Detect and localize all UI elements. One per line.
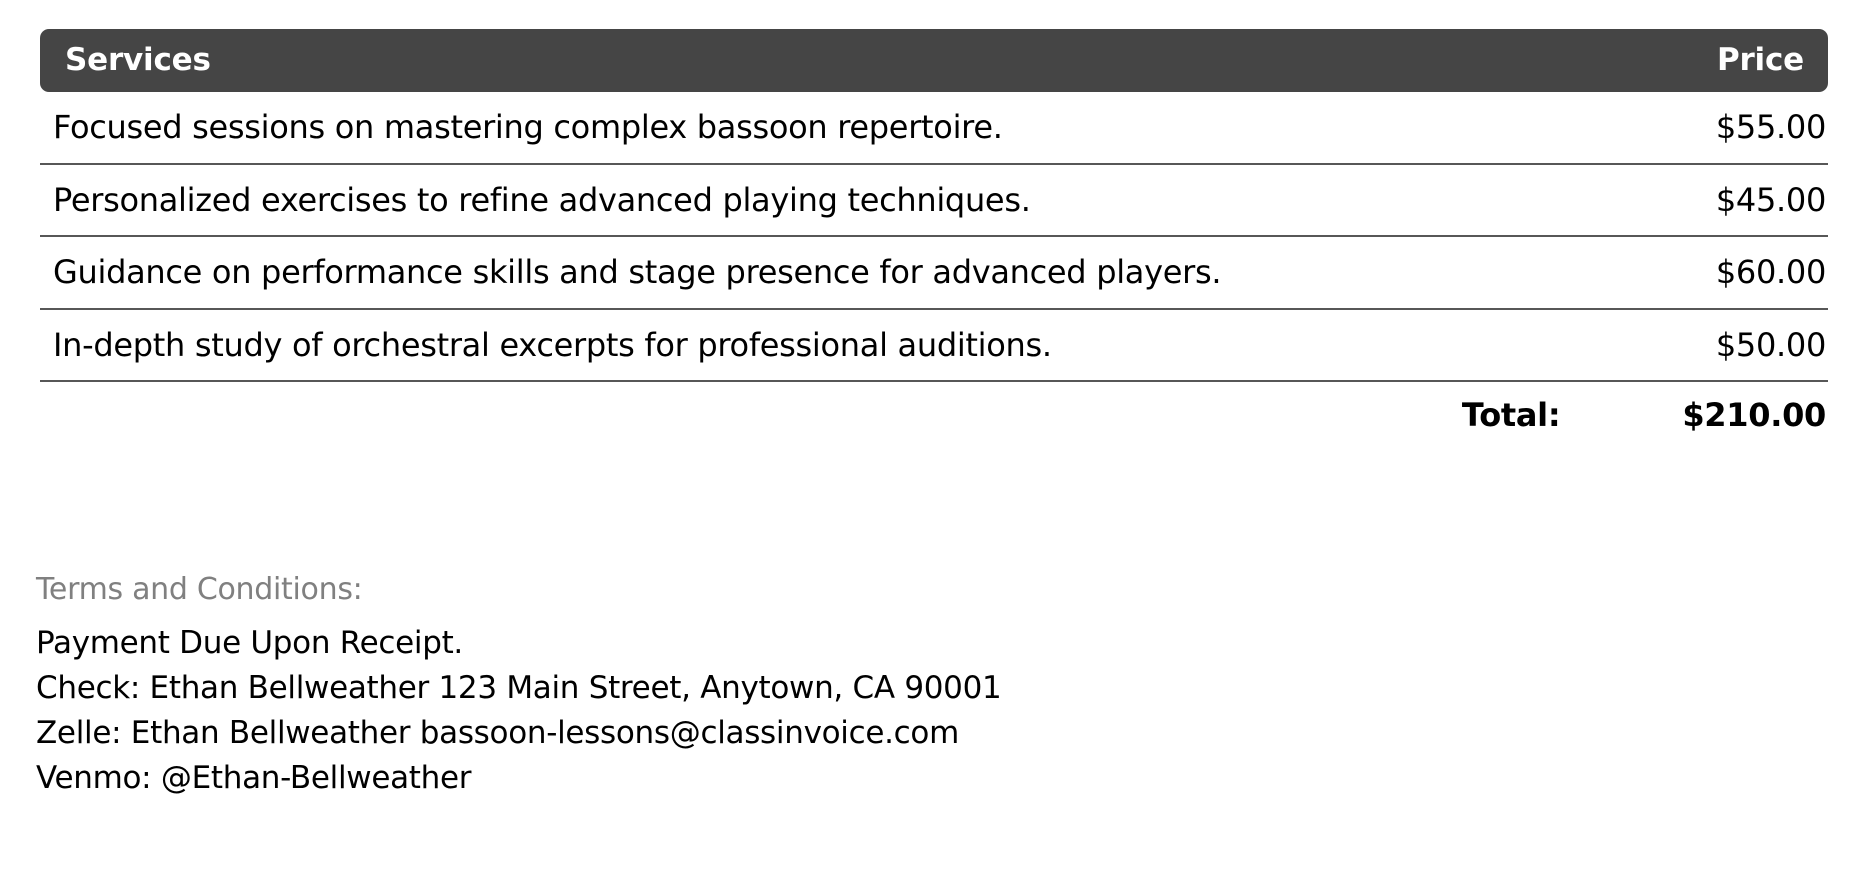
service-description: In-depth study of orchestral excerpts fo… (53, 326, 1052, 364)
service-price: $50.00 (1716, 326, 1826, 364)
terms-and-conditions-section: Terms and Conditions: Payment Due Upon R… (36, 573, 1636, 801)
table-header-row: Services Price (40, 29, 1828, 92)
service-price: $55.00 (1716, 108, 1826, 146)
service-description: Personalized exercises to refine advance… (53, 181, 1031, 219)
terms-line-check: Check: Ethan Bellweather 123 Main Street… (36, 666, 1636, 711)
table-row: Focused sessions on mastering complex ba… (40, 92, 1828, 165)
column-header-services: Services (65, 45, 211, 76)
total-label: Total: (1462, 396, 1560, 434)
total-row: Total: $210.00 (40, 382, 1828, 448)
column-header-price: Price (1717, 45, 1804, 76)
service-price: $45.00 (1716, 181, 1826, 219)
table-row: Guidance on performance skills and stage… (40, 237, 1828, 310)
total-amount: $210.00 (1682, 396, 1826, 434)
services-price-table: Services Price Focused sessions on maste… (40, 29, 1828, 448)
table-row: In-depth study of orchestral excerpts fo… (40, 310, 1828, 383)
terms-title: Terms and Conditions: (36, 573, 1636, 606)
service-description: Guidance on performance skills and stage… (53, 253, 1221, 291)
table-row: Personalized exercises to refine advance… (40, 165, 1828, 238)
invoice-page: Services Price Focused sessions on maste… (0, 0, 1868, 870)
service-price: $60.00 (1716, 253, 1826, 291)
terms-line-venmo: Venmo: @Ethan-Bellweather (36, 756, 1636, 801)
terms-line-payment-due: Payment Due Upon Receipt. (36, 621, 1636, 666)
terms-line-zelle: Zelle: Ethan Bellweather bassoon-lessons… (36, 711, 1636, 756)
service-description: Focused sessions on mastering complex ba… (53, 108, 1003, 146)
